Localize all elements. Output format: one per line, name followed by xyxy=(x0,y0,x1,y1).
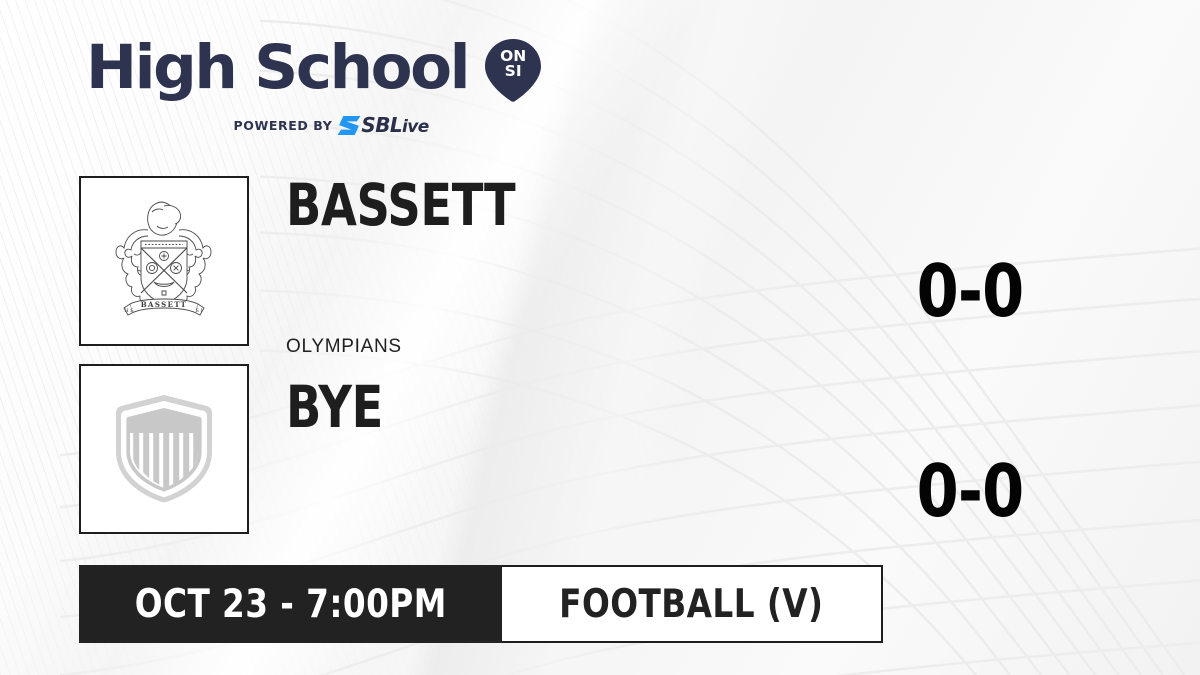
team-logo-box-1: BASSETT H S S I xyxy=(79,176,249,346)
location-pin-icon: ON SI xyxy=(480,37,546,103)
sblive-s-icon xyxy=(338,116,361,135)
scoreboard-graphic: High School ON SI POWERED BY SBLive xyxy=(0,0,1200,675)
brand-title: High School xyxy=(86,39,468,98)
sblive-wordmark-tail: ive xyxy=(402,117,429,137)
svg-text:BASSETT: BASSETT xyxy=(141,300,188,309)
sblive-wordmark-lead: SBL xyxy=(361,113,402,137)
pin-label-line2: SI xyxy=(480,64,546,79)
svg-text:H S: H S xyxy=(124,308,134,314)
game-datetime-text: OCT 23 - 7:00PM xyxy=(135,582,447,627)
brand-logo-row: High School ON SI xyxy=(86,34,546,103)
sblive-wordmark: SBLive xyxy=(361,113,428,137)
game-datetime-block: OCT 23 - 7:00PM xyxy=(79,565,502,643)
brand-logo: High School ON SI POWERED BY SBLive xyxy=(86,34,546,137)
sblive-logo: SBLive xyxy=(339,113,428,137)
game-sport-text: FOOTBALL (V) xyxy=(560,582,824,627)
team-mascot-1: OLYMPIANS xyxy=(286,336,402,358)
bassett-crest-icon: BASSETT H S S I xyxy=(108,196,220,326)
team-logo-box-2 xyxy=(79,364,249,534)
game-sport-block: FOOTBALL (V) xyxy=(502,565,883,643)
team-name-1: BASSETT xyxy=(286,176,515,234)
powered-by-block: POWERED BY SBLive xyxy=(116,113,546,137)
team-score-1: 0-0 xyxy=(911,255,1029,327)
pin-label: ON SI xyxy=(480,49,546,79)
game-info-bar: OCT 23 - 7:00PM FOOTBALL (V) xyxy=(79,565,883,643)
team-score-2: 0-0 xyxy=(911,455,1029,527)
placeholder-shield-icon xyxy=(111,390,217,508)
svg-text:S I: S I xyxy=(196,308,203,314)
team-name-2: BYE xyxy=(286,378,383,436)
powered-by-label: POWERED BY xyxy=(234,118,333,133)
